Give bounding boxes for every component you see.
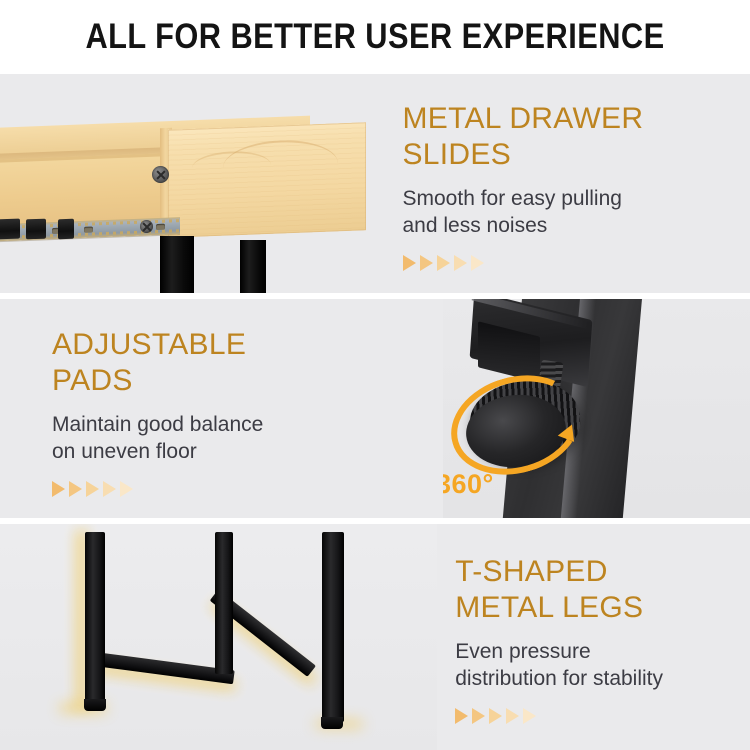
- feature-copy-t-shaped-metal-legs: T-SHAPED METAL LEGS Even pressure distri…: [437, 524, 750, 750]
- pad-photo-frame: 360°: [443, 299, 750, 518]
- adjustable-pad-photo: 360°: [443, 299, 750, 518]
- arrow-icon: [471, 255, 484, 271]
- leg-foot: [84, 699, 106, 711]
- page-title: ALL FOR BETTER USER EXPERIENCE: [85, 17, 664, 57]
- arrow-icon: [489, 708, 502, 724]
- t-leg-photo: [0, 524, 437, 750]
- rail-hole: [84, 227, 93, 233]
- arrow-row: [455, 708, 750, 724]
- t-leg-scene: [0, 524, 437, 750]
- yellow-highlight-glow: [78, 530, 85, 708]
- arrow-icon: [86, 481, 99, 497]
- rail-hole: [156, 224, 165, 230]
- feature-copy-adjustable-pads: ADJUSTABLE PADS Maintain good balance on…: [0, 299, 443, 518]
- feature-heading: METAL DRAWER SLIDES: [403, 101, 750, 173]
- arrow-icon: [120, 481, 133, 497]
- feature-panel-t-shaped-metal-legs: T-SHAPED METAL LEGS Even pressure distri…: [0, 524, 750, 750]
- arrow-icon: [472, 708, 485, 724]
- vertical-post-left: [85, 532, 105, 704]
- drawer-front-panel: [168, 122, 366, 238]
- pad-scene: 360°: [443, 299, 750, 518]
- arrow-icon: [455, 708, 468, 724]
- drawer-scene: [0, 74, 381, 293]
- ball-bearing-carriage: [58, 219, 74, 240]
- arrow-icon: [103, 481, 116, 497]
- feature-heading: ADJUSTABLE PADS: [52, 327, 443, 399]
- feature-panel-metal-drawer-slides: METAL DRAWER SLIDES Smooth for easy pull…: [0, 74, 750, 293]
- black-metal-leg: [240, 240, 266, 293]
- ball-bearing-carriage: [26, 219, 46, 240]
- feature-heading: T-SHAPED METAL LEGS: [455, 554, 750, 626]
- arrow-icon: [69, 481, 82, 497]
- black-metal-leg: [160, 236, 194, 293]
- ball-bearing-carriage: [0, 219, 20, 240]
- arrow-icon: [523, 708, 536, 724]
- drawer-slide-photo: [0, 74, 381, 293]
- infographic-root: ALL FOR BETTER USER EXPERIENCE: [0, 0, 750, 750]
- wood-grain-texture: [168, 122, 366, 238]
- arrow-row: [403, 255, 750, 271]
- header-band: ALL FOR BETTER USER EXPERIENCE: [0, 0, 750, 74]
- arrow-row: [52, 481, 443, 497]
- arrow-icon: [437, 255, 450, 271]
- feature-panel-adjustable-pads: ADJUSTABLE PADS Maintain good balance on…: [0, 299, 750, 518]
- feature-body-text: Even pressure distribution for stability: [455, 638, 750, 692]
- vertical-post-rear: [215, 532, 233, 674]
- feature-copy-metal-drawer-slides: METAL DRAWER SLIDES Smooth for easy pull…: [381, 74, 750, 293]
- mounting-screw: [140, 220, 153, 233]
- arrow-icon: [52, 481, 65, 497]
- arrow-icon: [420, 255, 433, 271]
- leg-foot: [321, 717, 343, 729]
- vertical-post-right: [322, 532, 344, 722]
- mounting-screw: [152, 166, 169, 183]
- feature-body-text: Maintain good balance on uneven floor: [52, 411, 443, 465]
- arrow-icon: [403, 255, 416, 271]
- arrow-icon: [506, 708, 519, 724]
- arrow-icon: [454, 255, 467, 271]
- feature-body-text: Smooth for easy pulling and less noises: [403, 185, 750, 239]
- rotation-degree-badge: 360°: [443, 469, 494, 500]
